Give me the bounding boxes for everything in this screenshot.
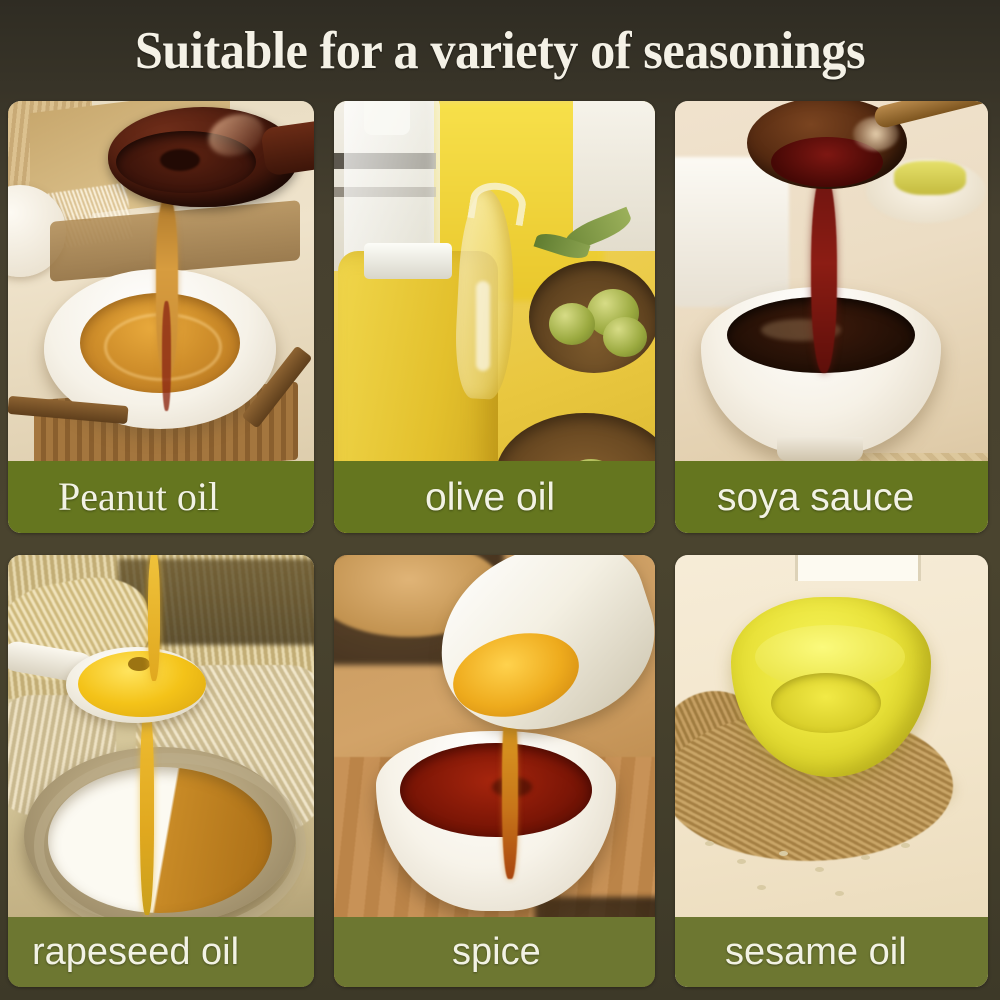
label-bar-sesame-oil: sesame oil [675, 917, 988, 987]
card-rapeseed-oil[interactable]: rapeseed oil [8, 555, 314, 987]
card-label: rapeseed oil [8, 933, 239, 971]
card-label: olive oil [334, 478, 555, 517]
card-label: soya sauce [675, 478, 914, 517]
card-label: Peanut oil [8, 477, 219, 517]
label-bar-olive-oil: olive oil [334, 461, 655, 533]
label-bar-rapeseed-oil: rapeseed oil [8, 917, 314, 987]
label-bar-spice: spice [334, 917, 655, 987]
card-label: sesame oil [675, 933, 907, 971]
label-bar-peanut-oil: Peanut oil [8, 461, 314, 533]
card-olive-oil[interactable]: olive oil [334, 101, 655, 533]
card-spice[interactable]: spice [334, 555, 655, 987]
page-title: Suitable for a variety of seasonings [25, 16, 975, 86]
label-bar-soya-sauce: soya sauce [675, 461, 988, 533]
product-grid: Peanut oil [8, 101, 992, 989]
card-sesame-oil[interactable]: sesame oil [675, 555, 988, 987]
promo-banner: Suitable for a variety of seasonings [0, 0, 1000, 1000]
card-label: spice [334, 933, 541, 971]
card-peanut-oil[interactable]: Peanut oil [8, 101, 314, 533]
card-soya-sauce[interactable]: REAL Design Photography soya sauce [675, 101, 988, 533]
